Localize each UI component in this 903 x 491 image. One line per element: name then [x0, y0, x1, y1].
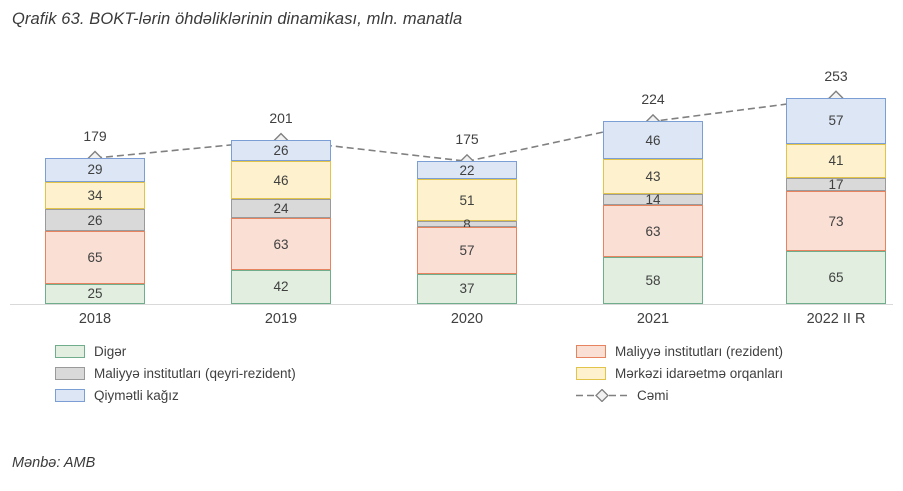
- bar-segment: 57: [417, 227, 517, 273]
- bar-segment: 22: [417, 161, 517, 179]
- bar-segment: 41: [786, 144, 886, 177]
- bar-segment: 73: [786, 191, 886, 251]
- legend-item-m-rk-zi-idar-etm-orqanlar[interactable]: Mərkəzi idarəetmə orqanları: [576, 366, 783, 381]
- legend-item-maliyy-institutlar-rezident[interactable]: Maliyyə institutları (rezident): [576, 344, 783, 359]
- total-value-label: 224: [593, 91, 713, 107]
- bar-segment: 46: [231, 161, 331, 199]
- legend-swatch-icon: [576, 345, 606, 358]
- bar-segment: 34: [45, 182, 145, 210]
- bar-segment: 24: [231, 199, 331, 219]
- chart-legend: DigərMaliyyə institutları (rezident) Mal…: [0, 344, 903, 410]
- category-label: 2020: [387, 311, 547, 327]
- bar-segment: 57: [786, 98, 886, 144]
- plot-area: 2934266525179264624634220122518573717546…: [0, 55, 903, 305]
- legend-label: Digər: [94, 344, 126, 359]
- bar-segment: 65: [45, 231, 145, 284]
- bar-segment: 14: [603, 194, 703, 205]
- legend-swatch-icon: [55, 345, 85, 358]
- bar-column-2021: 4643146358: [603, 121, 703, 304]
- legend-label: Mərkəzi idarəetmə orqanları: [615, 366, 783, 381]
- bar-segment: 58: [603, 257, 703, 304]
- bar-column-2020: 225185737: [417, 161, 517, 304]
- bar-segment: 63: [231, 218, 331, 269]
- legend-label: Qiymətli kağız: [94, 388, 179, 403]
- legend-label: Maliyyə institutları (qeyri-rezident): [94, 366, 296, 381]
- legend-row-1: DigərMaliyyə institutları (rezident): [0, 344, 903, 366]
- bar-segment: 17: [786, 178, 886, 192]
- bar-segment: 51: [417, 179, 517, 221]
- legend-label: Maliyyə institutları (rezident): [615, 344, 783, 359]
- bar-segment: 46: [603, 121, 703, 159]
- legend-label: Cəmi: [637, 388, 669, 403]
- legend-item-c-mi[interactable]: Cəmi: [576, 388, 669, 403]
- category-labels: 20182019202020212022 II R: [0, 311, 903, 335]
- total-value-label: 253: [776, 68, 896, 84]
- source-note: Mənbə: AMB: [12, 455, 95, 471]
- x-axis-line: [10, 304, 893, 305]
- bar-segment: 42: [231, 270, 331, 304]
- legend-item-qiym-tli-ka-z[interactable]: Qiymətli kağız: [55, 388, 179, 403]
- bar-segment: 63: [603, 205, 703, 256]
- bar-segment: 43: [603, 159, 703, 194]
- legend-swatch-icon: [576, 367, 606, 380]
- legend-row-2: Maliyyə institutları (qeyri-rezident)Mər…: [0, 366, 903, 388]
- legend-swatch-icon: [55, 389, 85, 402]
- bar-segment: 25: [45, 284, 145, 304]
- category-label: 2022 II R: [756, 311, 903, 327]
- legend-row-3: Qiymətli kağızCəmi: [0, 388, 903, 410]
- bar-segment: 37: [417, 274, 517, 304]
- bar-segment: 29: [45, 158, 145, 182]
- bar-column-2022-II-R: 5741177365: [786, 98, 886, 304]
- total-value-label: 179: [35, 128, 155, 144]
- bar-segment: 26: [45, 209, 145, 230]
- legend-item-dig-r[interactable]: Digər: [55, 344, 126, 359]
- category-label: 2019: [201, 311, 361, 327]
- legend-item-maliyy-institutlar-qeyri-rezident[interactable]: Maliyyə institutları (qeyri-rezident): [55, 366, 296, 381]
- bar-column-2018: 2934266525: [45, 158, 145, 304]
- total-value-label: 175: [407, 131, 527, 147]
- legend-swatch-icon: [55, 367, 85, 380]
- category-label: 2018: [15, 311, 175, 327]
- chart-title: Qrafik 63. BOKT-lərin öhdəliklərinin din…: [12, 10, 462, 29]
- bar-column-2019: 2646246342: [231, 140, 331, 304]
- bar-segment: 65: [786, 251, 886, 304]
- legend-line-marker-icon: [576, 389, 628, 402]
- bar-segment: 26: [231, 140, 331, 161]
- category-label: 2021: [573, 311, 733, 327]
- total-value-label: 201: [221, 110, 341, 126]
